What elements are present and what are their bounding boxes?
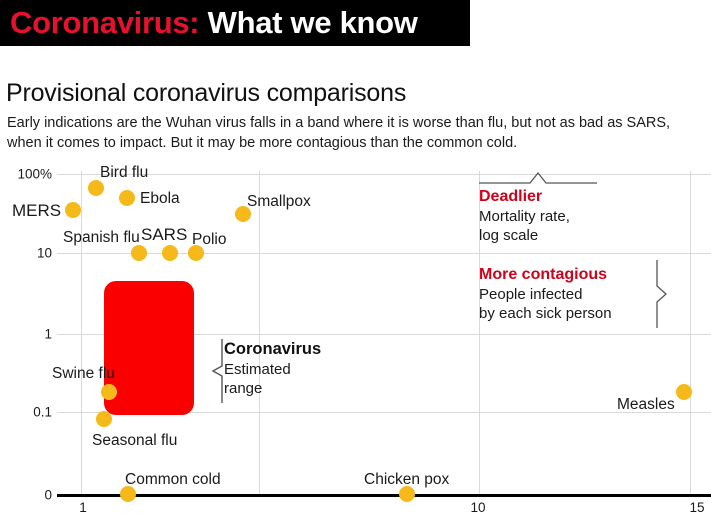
callout-more-contagious-head: More contagious — [479, 265, 612, 284]
gridline-horizontal — [57, 174, 711, 175]
callout-more-contagious-line1: People infected — [479, 285, 612, 304]
data-point-seasonal-flu[interactable] — [96, 411, 112, 427]
callout-more-contagious-line2: by each sick person — [479, 304, 612, 323]
header-title-white: What we know — [199, 5, 417, 41]
label-ebola: Ebola — [140, 190, 180, 208]
more-contagious-arrow-icon — [655, 259, 669, 329]
callout-deadlier-line2: log scale — [479, 226, 570, 245]
y-axis-tick: 1 — [44, 327, 52, 342]
y-axis-tick: 100% — [17, 167, 52, 182]
gridline-vertical — [690, 171, 691, 494]
callout-coronavirus: Coronavirus Estimated range — [224, 340, 321, 398]
callout-coronavirus-line2: range — [224, 379, 321, 398]
callout-deadlier: Deadlier Mortality rate, log scale — [479, 187, 570, 245]
header-banner: Coronavirus: What we know — [0, 0, 470, 46]
x-axis-tick: 15 — [689, 500, 704, 515]
data-point-ebola[interactable] — [119, 190, 135, 206]
label-sars: SARS — [141, 225, 187, 245]
label-swine-flu: Swine flu — [52, 365, 100, 383]
label-measles: Measles — [617, 396, 675, 414]
label-smallpox: Smallpox — [247, 193, 311, 211]
data-point-bird-flu[interactable] — [88, 180, 104, 196]
gridline-vertical — [81, 171, 82, 494]
data-point-mers[interactable] — [65, 202, 81, 218]
label-chicken-pox: Chicken pox — [364, 471, 449, 489]
y-axis-tick: 10 — [37, 246, 52, 261]
label-spanish-flu: Spanish flu — [63, 229, 140, 247]
data-point-measles[interactable] — [676, 384, 692, 400]
callout-more-contagious: More contagious People infected by each … — [479, 265, 612, 323]
label-bird-flu: Bird flu — [100, 164, 148, 182]
y-axis-tick: 0.1 — [33, 405, 52, 420]
data-point-spanish-flu[interactable] — [131, 245, 147, 261]
callout-coronavirus-line1: Estimated — [224, 360, 321, 379]
standfirst-text: Early indications are the Wuhan virus fa… — [7, 113, 707, 153]
data-point-sars[interactable] — [162, 245, 178, 261]
gridline-horizontal — [57, 253, 711, 254]
x-axis-tick: 1 — [79, 500, 87, 515]
label-mers: MERS — [12, 201, 61, 221]
data-point-swine-flu[interactable] — [101, 384, 117, 400]
label-swine-flu-line2: flu — [99, 365, 115, 382]
y-axis-tick: 0 — [44, 488, 52, 503]
coronavirus-brace-icon — [210, 338, 224, 404]
x-axis-line — [57, 494, 711, 497]
callout-deadlier-line1: Mortality rate, — [479, 207, 570, 226]
callout-coronavirus-head: Coronavirus — [224, 340, 321, 359]
label-seasonal-flu: Seasonal flu — [92, 432, 177, 450]
header-title-red: Coronavirus: — [10, 5, 199, 41]
coronavirus-range-band — [104, 281, 194, 415]
page-title: Provisional coronavirus comparisons — [6, 79, 406, 108]
label-swine-flu-line1: Swine — [52, 365, 94, 382]
comparison-scatter-chart: 100% 10 1 0.1 0 1 10 15 MERS Bird flu Eb… — [0, 155, 711, 516]
callout-deadlier-head: Deadlier — [479, 187, 570, 206]
label-polio: Polio — [192, 231, 226, 249]
gridline-vertical — [259, 171, 260, 494]
label-common-cold: Common cold — [125, 471, 221, 489]
x-axis-tick: 10 — [470, 500, 485, 515]
